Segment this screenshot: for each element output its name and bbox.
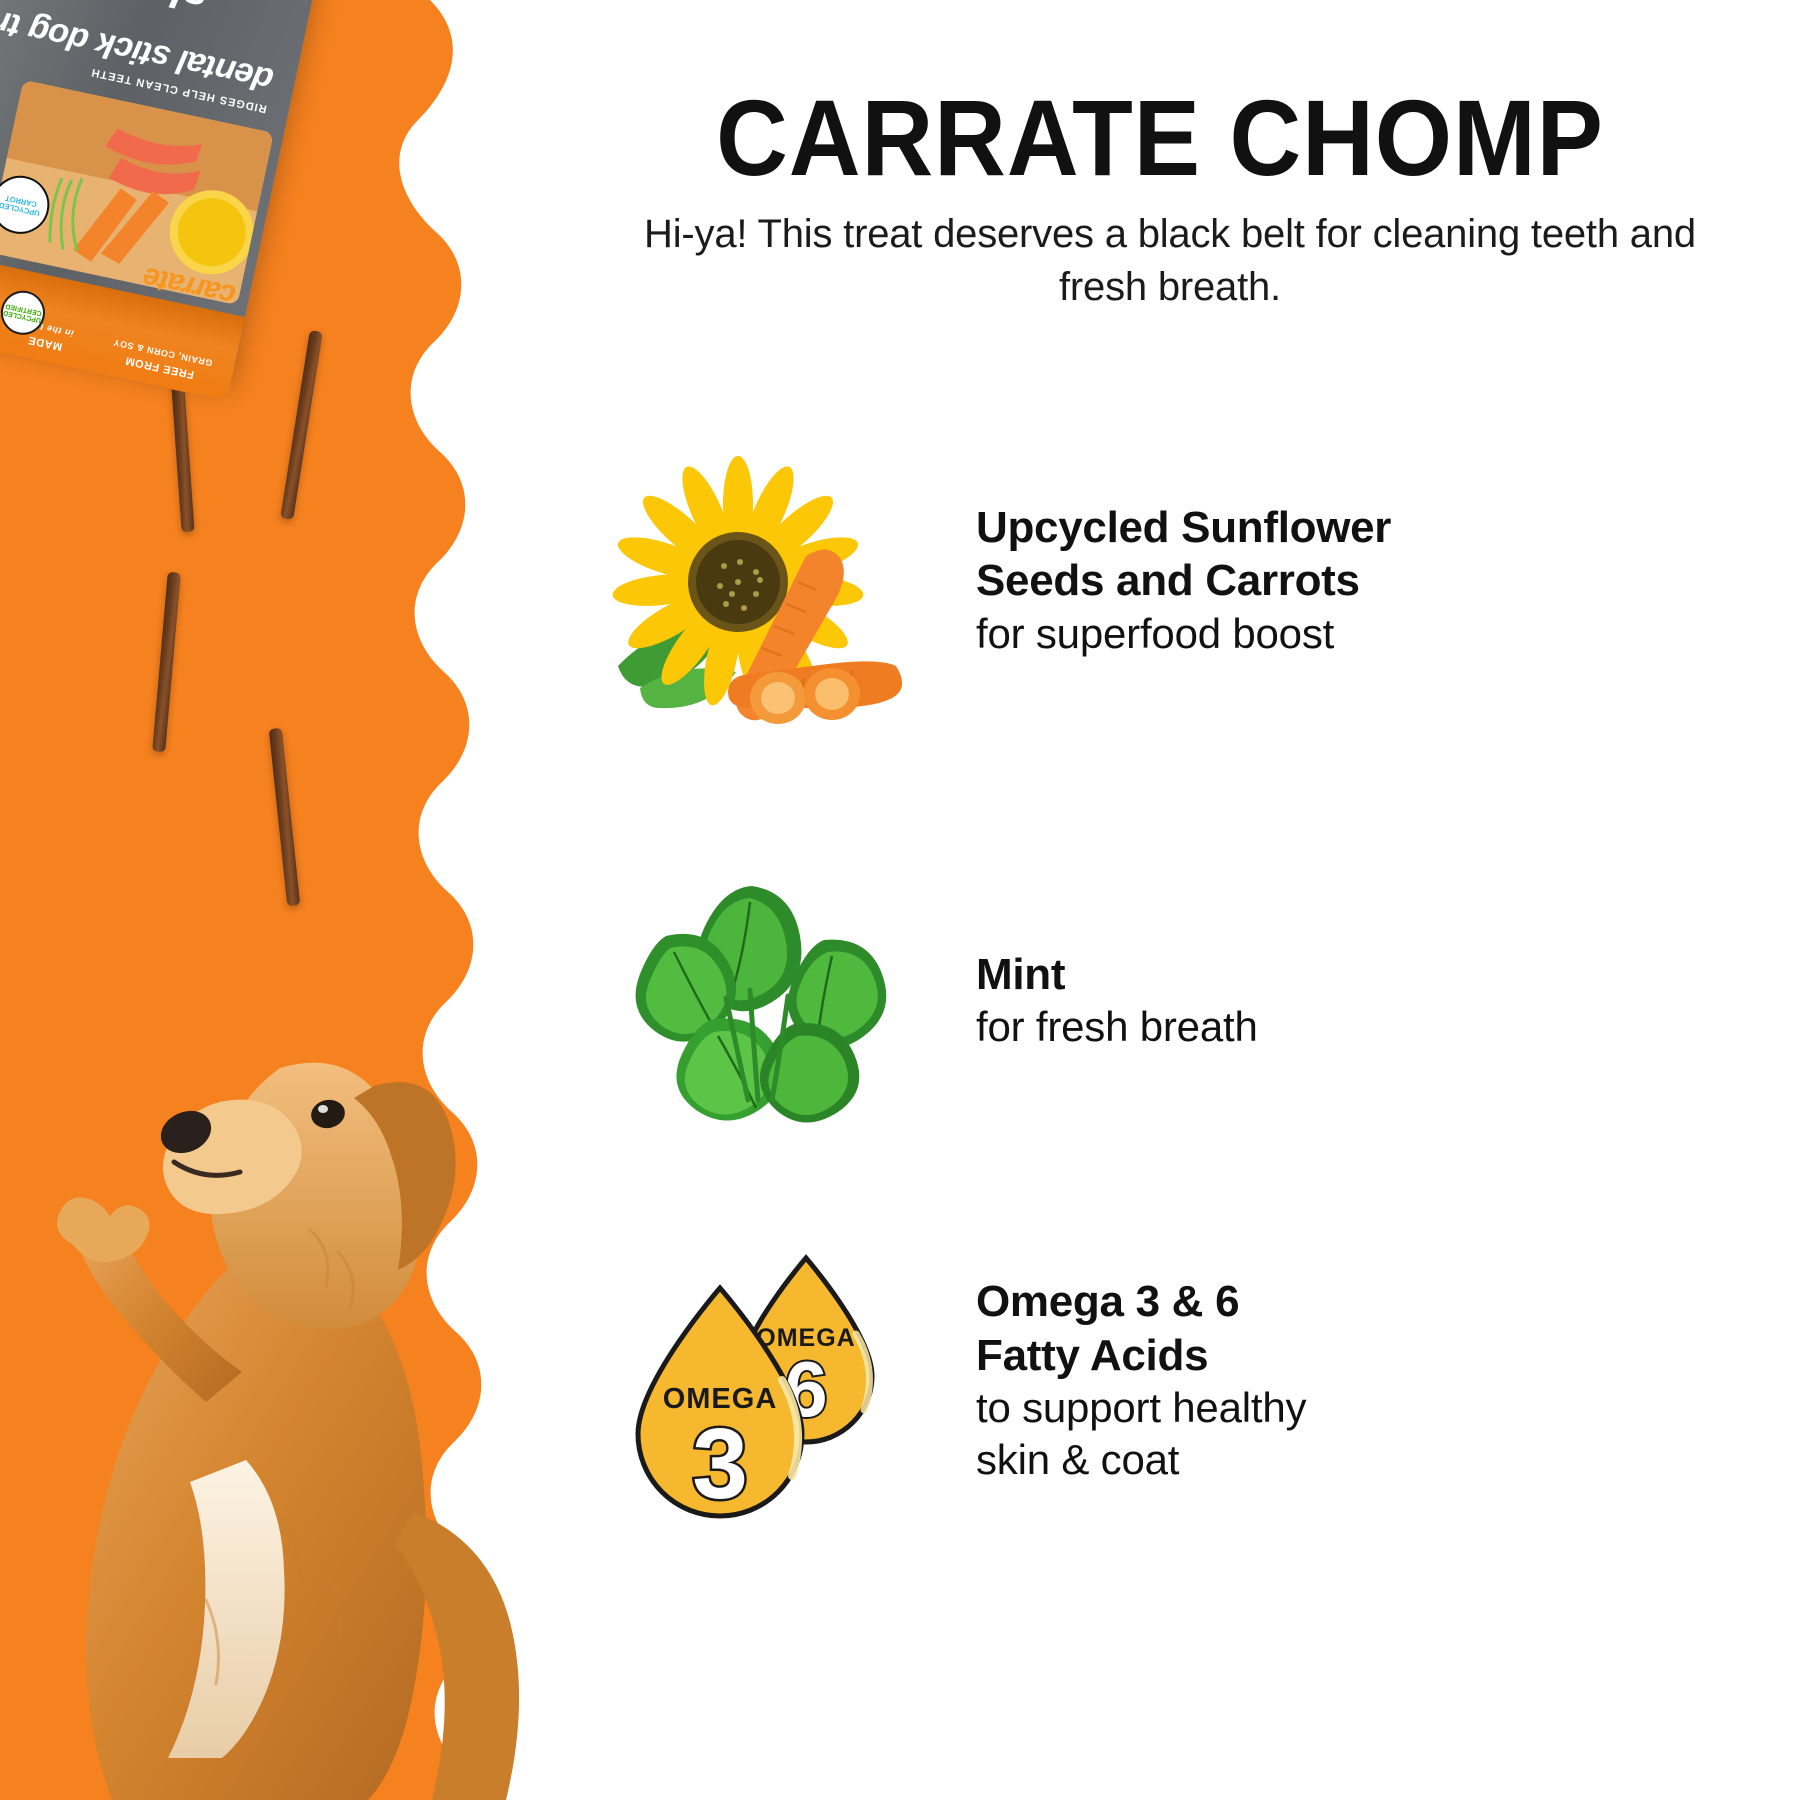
sunflower-carrot-image <box>560 430 960 730</box>
feature-row-upcycled-sunflower-seeds-and-carrots: Upcycled Sunflower Seeds and Carrots for… <box>560 430 1800 730</box>
feature-subtext-line: for superfood boost <box>976 608 1391 659</box>
content-column: CARRATE CHOMP Hi-ya! This treat deserves… <box>560 0 1800 1800</box>
feature-heading-line: Fatty Acids <box>976 1329 1306 1383</box>
upcycled-carrot-seal-label: UPCYCLED CARROT <box>0 191 48 218</box>
feature-subtext-line: skin & coat <box>976 1434 1306 1485</box>
page-title: CARRATE CHOMP <box>608 84 1712 192</box>
dog-paw <box>57 1197 150 1262</box>
feature-text-upcycled-sunflower-seeds-and-carrots: Upcycled Sunflower Seeds and Carrots for… <box>960 501 1391 660</box>
upcycled-certified-badge-label: UPCYCLED CERTIFIED <box>2 302 44 324</box>
feature-row-omega-3-and-6-fatty-acids: OMEGA 6 OMEGA 3 Omega 3 & 6 Fatty Acids … <box>560 1190 1800 1570</box>
feature-subtext-line: to support healthy <box>976 1382 1306 1433</box>
page-subtitle: Hi-ya! This treat deserves a black belt … <box>620 208 1720 314</box>
feature-heading-line: Mint <box>976 948 1258 1002</box>
dog-eye-highlight <box>318 1105 328 1113</box>
feature-row-mint: Mint for fresh breath <box>560 850 1800 1150</box>
feature-text-omega-3-and-6-fatty-acids: Omega 3 & 6 Fatty Acids to support healt… <box>960 1275 1306 1485</box>
feature-heading-line: Seeds and Carrots <box>976 554 1391 608</box>
feature-heading-line: Upcycled Sunflower <box>976 501 1391 555</box>
dog-photo <box>10 900 630 1800</box>
feature-subtext-line: for fresh breath <box>976 1001 1258 1052</box>
omega-3-number: 3 <box>692 1408 748 1520</box>
feature-text-mint: Mint for fresh breath <box>960 948 1258 1053</box>
feature-heading-line: Omega 3 & 6 <box>976 1275 1306 1329</box>
